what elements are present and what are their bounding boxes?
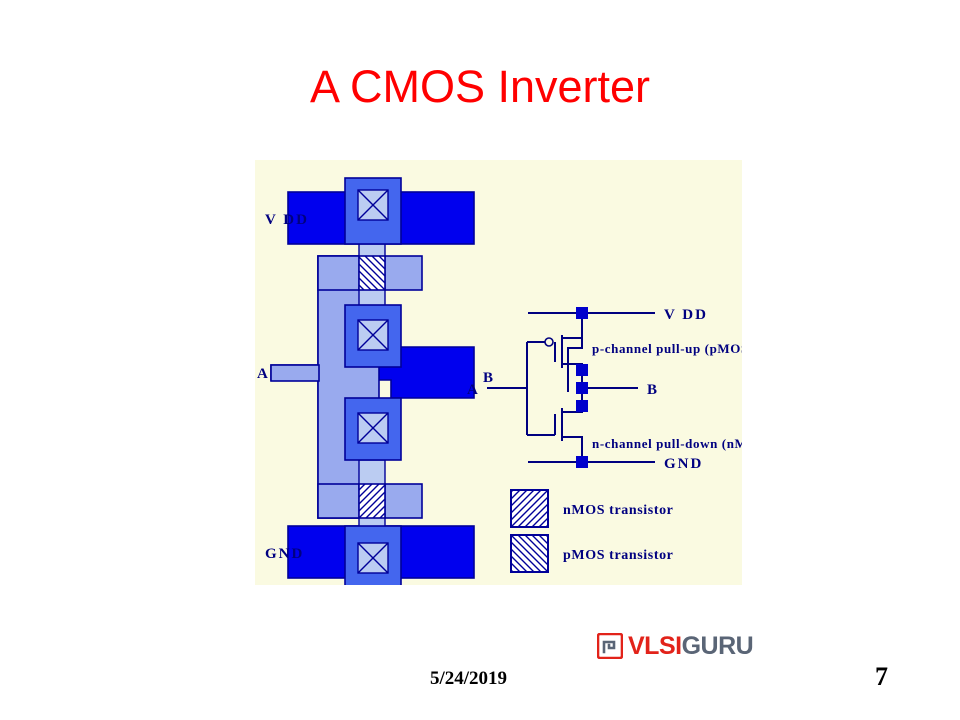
legend-label-nmos: nMOS transistor — [563, 503, 674, 518]
vlsiguru-mark-icon — [597, 633, 623, 659]
pmos-bubble-icon — [545, 338, 553, 346]
schematic-label-vdd: V DD — [664, 307, 708, 323]
schematic-label-nmos: n-channel pull-down (nMOS) — [592, 436, 742, 451]
legend-swatch-pmos — [511, 535, 548, 572]
cmos-inverter-figure: V DD GND A B — [255, 160, 742, 585]
schematic-label-gnd: GND — [664, 456, 703, 472]
brand-name-secondary: GURU — [682, 632, 754, 660]
page-title: A CMOS Inverter — [0, 62, 960, 112]
junction-output — [576, 382, 588, 394]
contact-cut — [358, 543, 388, 573]
brand-name-primary: VLSI — [628, 632, 682, 660]
brand-name: VLSIGURU — [628, 633, 753, 659]
legend-label-pmos: pMOS transistor — [563, 548, 674, 563]
slide-canvas: A CMOS Inverter — [0, 0, 960, 720]
nmos-gate-hatch — [359, 484, 385, 518]
footer-date: 5/24/2019 — [430, 668, 507, 690]
layout-label-b: B — [483, 370, 493, 386]
contact-cut — [358, 190, 388, 220]
contact-cut — [358, 413, 388, 443]
schematic-label-b: B — [647, 382, 657, 398]
schematic-label-a: A — [467, 382, 478, 398]
legend-swatch-nmos — [511, 490, 548, 527]
junction-gnd — [576, 456, 588, 468]
contact-cut — [358, 320, 388, 350]
layout-label-a: A — [257, 366, 268, 382]
schematic-label-pmos: p-channel pull-up (pMOS) — [592, 341, 742, 356]
pmos-gate-hatch — [359, 256, 385, 290]
junction-pmos-drain — [576, 364, 588, 376]
brand-logo: VLSIGURU — [597, 630, 753, 662]
poly-input-tab — [271, 365, 319, 381]
layout-label-vdd: V DD — [265, 212, 309, 228]
junction-nmos-drain — [576, 400, 588, 412]
junction-vdd — [576, 307, 588, 319]
layout-label-gnd: GND — [265, 546, 304, 562]
page-number: 7 — [875, 662, 888, 692]
